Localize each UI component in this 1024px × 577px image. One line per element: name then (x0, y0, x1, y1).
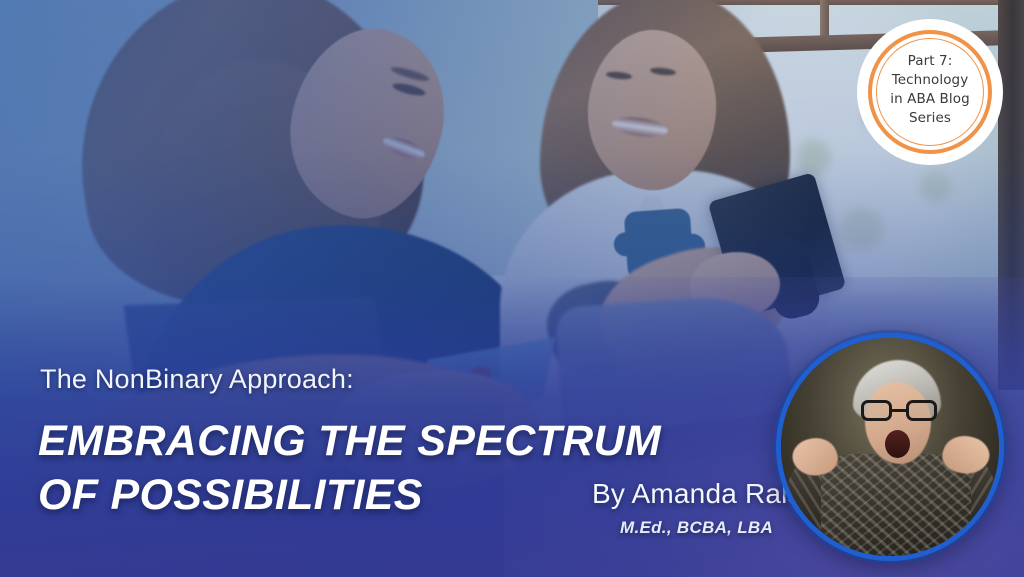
author-credentials: M.Ed., BCBA, LBA (620, 518, 773, 538)
portrait-image (781, 338, 999, 556)
page-title: EMBRACING THE SPECTRUM OF POSSIBILITIES (38, 414, 661, 522)
banner-canvas: Part 7: Technology in ABA Blog Series Th… (0, 0, 1024, 577)
headline-line-2: OF POSSIBILITIES (38, 468, 661, 522)
badge-line-3: in ABA Blog (857, 90, 1003, 109)
glasses-icon (861, 400, 937, 421)
portrait-jacket (821, 454, 971, 561)
badge-text-block: Part 7: Technology in ABA Blog Series (857, 52, 1003, 129)
author-portrait (776, 333, 1004, 561)
badge-line-4: Series (857, 109, 1003, 128)
series-badge: Part 7: Technology in ABA Blog Series (857, 19, 1003, 165)
portrait-open-mouth (885, 430, 910, 458)
eyebrow-text: The NonBinary Approach: (40, 364, 354, 395)
badge-line-1: Part 7: (857, 52, 1003, 71)
badge-line-2: Technology (857, 71, 1003, 90)
headline-line-1: EMBRACING THE SPECTRUM (38, 414, 661, 468)
